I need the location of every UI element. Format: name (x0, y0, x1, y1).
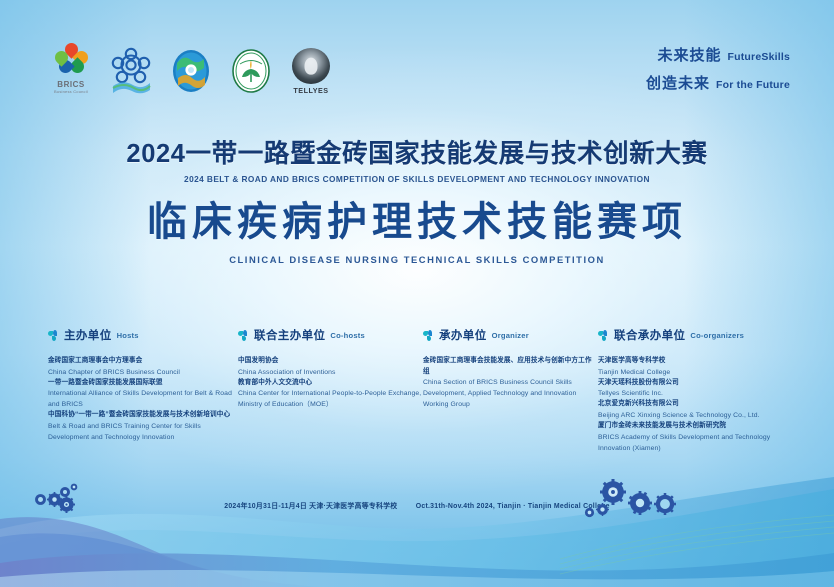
org-entry-en: China Association of Inventions (238, 367, 423, 378)
skills-alliance-logo (108, 36, 154, 94)
headline-block: 2024一带一路暨金砖国家技能发展与技术创新大赛 2024 BELT & ROA… (0, 140, 834, 184)
org-entry-en: Beijing ARC Xinxing Science & Technology… (598, 410, 798, 421)
gear-icon (654, 493, 676, 515)
org-heading-zh: 联合承办单位 (614, 327, 685, 343)
org-entry-en: China Chapter of BRICS Business Council (48, 367, 238, 378)
leaf-bullet-icon (48, 330, 59, 341)
org-entry-en: Tianjin Medical College (598, 367, 798, 378)
org-heading-zh: 主办单位 (64, 327, 112, 343)
org-heading-zh: 联合主办单位 (254, 327, 325, 343)
gear-icon (596, 503, 609, 516)
brics-petal-icon (51, 43, 91, 81)
gear-icon (584, 507, 595, 518)
org-column-coorganizers: 联合承办单位 Co-organizers 天津医学高等专科学校 Tianjin … (598, 327, 798, 454)
org-heading-hosts: 主办单位 Hosts (48, 327, 238, 343)
wave-shapes (0, 467, 834, 587)
org-entry: 北京爱克新兴科技有限公司 Beijing ARC Xinxing Science… (598, 399, 798, 421)
org-heading-en: Organizer (492, 331, 529, 340)
org-entry-zh: 厦门市金砖未来技能发展与技术创新研究院 (598, 421, 798, 432)
subtitle-en: CLINICAL DISEASE NURSING TECHNICAL SKILL… (0, 254, 834, 265)
org-heading-organizer: 承办单位 Organizer (423, 327, 598, 343)
org-entry-en: China Center for International People-to… (238, 388, 423, 410)
slogan-block: 未来技能 FutureSkills 创造未来 For the Future (646, 44, 790, 100)
tellyes-logo: TELLYES (288, 36, 334, 94)
slogan-line-2: 创造未来 For the Future (646, 72, 790, 93)
org-entry: 金砖国家工商理事会技能发展、应用技术与创新中方工作组 China Section… (423, 356, 598, 410)
brics-logo-subcaption: Business Council (54, 89, 88, 94)
organizations-section: 主办单位 Hosts 金砖国家工商理事会中方理事会 China Chapter … (48, 327, 804, 454)
slogan-line-1-zh: 未来技能 (657, 44, 721, 65)
org-column-cohosts: 联合主办单位 Co-hosts 中国发明协会 China Association… (238, 327, 423, 454)
headline-zh: 2024一带一路暨金砖国家技能发展与技术创新大赛 (0, 140, 834, 169)
org-entry: 天津医学高等专科学校 Tianjin Medical College (598, 356, 798, 378)
globe-emblem-icon (170, 48, 212, 94)
org-entry-zh: 金砖国家工商理事会中方理事会 (48, 356, 238, 367)
gear-icon (34, 493, 47, 506)
org-entry-en: Belt & Road and BRICS Training Center fo… (48, 421, 238, 443)
slogan-line-2-en: For the Future (716, 79, 790, 91)
tianjin-medical-college-logo (228, 36, 274, 94)
org-entry: 中国科协“一带一路”暨金砖国家技能发展与技术创新培训中心 Belt & Road… (48, 410, 238, 443)
brics-logo-caption: BRICS (57, 81, 84, 89)
org-heading-en: Hosts (117, 331, 139, 340)
gear-icon (58, 496, 75, 513)
org-entry: 金砖国家工商理事会中方理事会 China Chapter of BRICS Bu… (48, 356, 238, 378)
org-entry-en: BRICS Academy of Skills Development and … (598, 432, 798, 454)
org-entry: 中国发明协会 China Association of Inventions (238, 356, 423, 378)
slogan-line-1: 未来技能 FutureSkills (646, 44, 790, 65)
tellyes-logo-caption: TELLYES (293, 87, 328, 94)
org-entry-zh: 一带一路暨金砖国家技能发展国际联盟 (48, 378, 238, 389)
org-entry-zh: 金砖国家工商理事会技能发展、应用技术与创新中方工作组 (423, 356, 598, 377)
org-entry-en: China Section of BRICS Business Council … (423, 377, 598, 410)
headline-en: 2024 BELT & ROAD AND BRICS COMPETITION O… (0, 174, 834, 184)
subtitle-block: 临床疾病护理技术技能赛项 CLINICAL DISEASE NURSING TE… (0, 200, 834, 265)
org-entry: 天津天瑶科技股份有限公司 Tellyes Scientific Inc. (598, 378, 798, 400)
org-heading-en: Co-organizers (690, 331, 744, 340)
org-entry-en: Tellyes Scientific Inc. (598, 388, 798, 399)
leaf-bullet-icon (598, 330, 609, 341)
org-entry-zh: 北京爱克新兴科技有限公司 (598, 399, 798, 410)
bottom-wave-decoration (0, 467, 834, 587)
gear-icon (70, 483, 78, 491)
leaf-bullet-icon (423, 330, 434, 341)
org-entry: 教育部中外人文交流中心 China Center for Internation… (238, 378, 423, 411)
org-entry-zh: 天津医学高等专科学校 (598, 356, 798, 367)
org-heading-coorganizers: 联合承办单位 Co-organizers (598, 327, 798, 343)
org-heading-zh: 承办单位 (439, 327, 487, 343)
college-seal-icon (230, 48, 272, 94)
slogan-line-1-en: FutureSkills (728, 51, 791, 63)
org-entry: 一带一路暨金砖国家技能发展国际联盟 International Alliance… (48, 378, 238, 411)
partner-logo-row: BRICS Business Council (48, 36, 334, 94)
gear-icon (628, 491, 652, 515)
event-poster: BRICS Business Council (0, 0, 834, 587)
org-entry-zh: 中国发明协会 (238, 356, 423, 367)
tellyes-emblem-icon (292, 48, 330, 84)
slogan-line-2-zh: 创造未来 (646, 72, 710, 93)
subtitle-zh: 临床疾病护理技术技能赛项 (0, 200, 834, 245)
org-entry-zh: 中国科协“一带一路”暨金砖国家技能发展与技术创新培训中心 (48, 410, 238, 421)
gear-icon (600, 479, 626, 505)
skills-alliance-emblem-icon (109, 46, 153, 94)
brics-business-council-logo: BRICS Business Council (48, 36, 94, 94)
org-column-hosts: 主办单位 Hosts 金砖国家工商理事会中方理事会 China Chapter … (48, 327, 238, 454)
invention-association-logo (168, 36, 214, 94)
leaf-bullet-icon (238, 330, 249, 341)
org-heading-cohosts: 联合主办单位 Co-hosts (238, 327, 423, 343)
org-entry-zh: 教育部中外人文交流中心 (238, 378, 423, 389)
org-entry-zh: 天津天瑶科技股份有限公司 (598, 378, 798, 389)
org-entry-en: International Alliance of Skills Develop… (48, 388, 238, 410)
org-heading-en: Co-hosts (330, 331, 365, 340)
org-column-organizer: 承办单位 Organizer 金砖国家工商理事会技能发展、应用技术与创新中方工作… (423, 327, 598, 454)
org-entry: 厦门市金砖未来技能发展与技术创新研究院 BRICS Academy of Ski… (598, 421, 798, 454)
